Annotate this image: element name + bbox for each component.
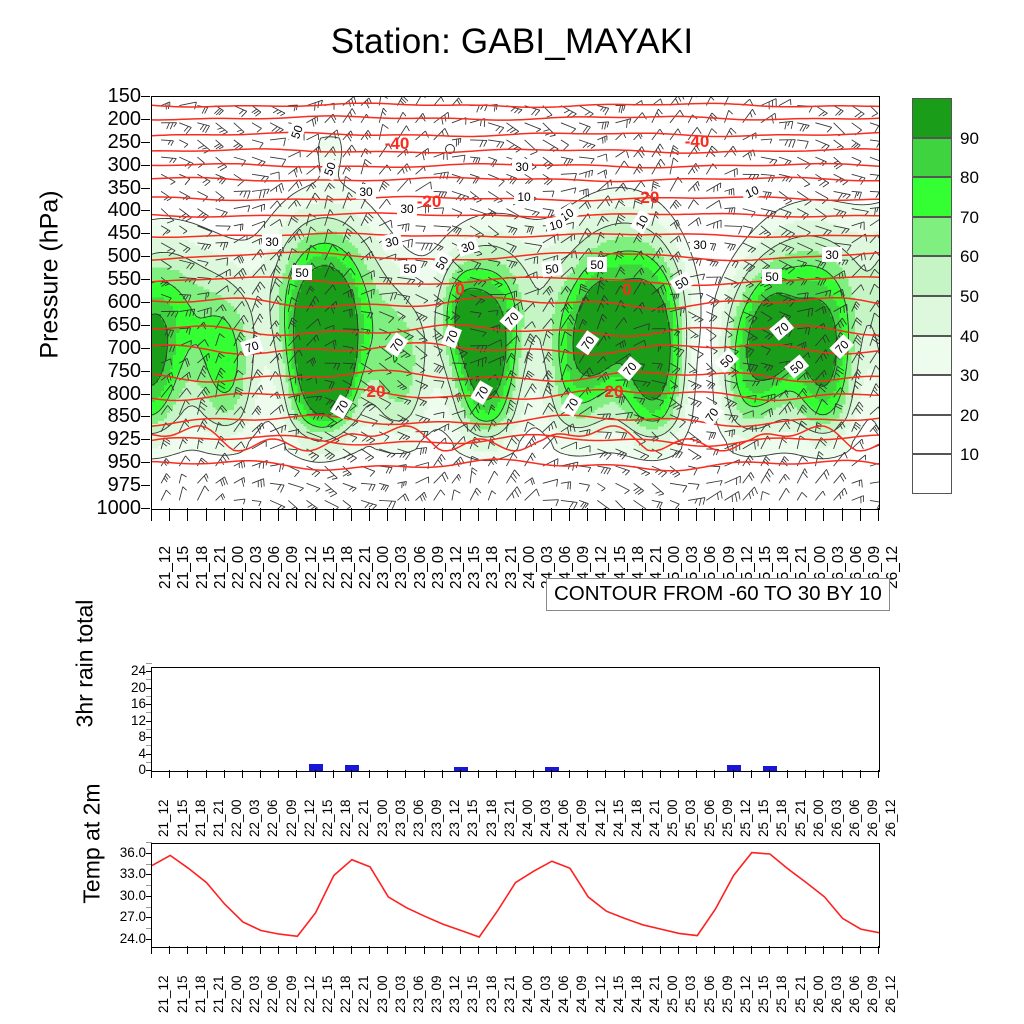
rain-y-tick-label: 20	[112, 681, 146, 695]
x-tick-label: 22_12	[302, 799, 317, 837]
x-tick-label: 21_12	[156, 799, 171, 837]
y-tick-mark	[141, 256, 150, 257]
x-tick-mark	[369, 770, 370, 778]
x-tick-label: 21_15	[175, 546, 193, 589]
y-tick-mark	[141, 188, 150, 189]
x-tick-mark	[823, 946, 824, 954]
x-tick-label: 26_09	[865, 975, 880, 1013]
x-tick-label: 22_03	[248, 546, 266, 589]
rain-y-tick-label: 16	[112, 697, 146, 711]
x-tick-label: 23_06	[411, 975, 426, 1013]
y-tick-mark	[141, 233, 150, 234]
x-tick-label: 23_21	[502, 975, 517, 1013]
x-tick-label: 25_12	[738, 975, 753, 1013]
x-tick-mark	[187, 770, 188, 778]
x-tick-label: 26_12	[883, 799, 898, 837]
x-tick-mark	[696, 770, 697, 778]
main-x-tick-marks	[151, 508, 878, 522]
x-tick-mark	[405, 946, 406, 954]
rain-y-tick-label: 24	[112, 664, 146, 678]
time-height-cross-section-plot[interactable]: -40-40-20-200020205050303010103010103030…	[151, 96, 880, 510]
rain-x-tick-marks	[151, 770, 878, 779]
x-tick-mark	[805, 770, 806, 778]
x-tick-mark	[714, 770, 715, 778]
x-tick-mark	[405, 508, 406, 521]
x-tick-mark	[242, 508, 243, 521]
x-tick-mark	[224, 770, 225, 778]
y-tick-label: 925	[79, 429, 141, 449]
colorbar-swatch	[912, 138, 952, 178]
x-tick-mark	[769, 508, 770, 521]
x-tick-label: 26_06	[847, 799, 862, 837]
x-tick-label: 22_03	[247, 975, 262, 1013]
x-tick-label: 26_09	[865, 799, 880, 837]
x-tick-mark	[569, 770, 570, 778]
x-tick-mark	[642, 770, 643, 778]
x-tick-mark	[424, 770, 425, 778]
x-tick-label: 21_15	[175, 799, 190, 837]
x-tick-mark	[387, 508, 388, 521]
temp-series-svg	[152, 844, 879, 947]
y-tick-mark	[141, 119, 150, 120]
x-tick-label: 26_12	[883, 975, 898, 1013]
x-tick-mark	[496, 508, 497, 521]
x-tick-mark	[624, 946, 625, 954]
x-tick-label: 22_15	[320, 975, 335, 1013]
x-tick-label: 25_21	[793, 799, 808, 837]
x-tick-mark	[206, 946, 207, 954]
x-tick-label: 21_15	[175, 975, 190, 1013]
x-tick-mark	[169, 946, 170, 954]
y-tick-label: 650	[79, 315, 141, 335]
x-tick-label: 22_21	[356, 799, 371, 837]
x-tick-mark	[460, 508, 461, 521]
x-tick-mark	[478, 946, 479, 954]
x-tick-mark	[296, 508, 297, 521]
x-tick-mark	[878, 770, 879, 778]
colorbar-tick-label: 40	[960, 328, 979, 345]
x-tick-mark	[878, 946, 879, 954]
x-tick-label: 23_06	[412, 546, 430, 589]
x-tick-label: 22_00	[229, 799, 244, 837]
x-tick-label: 21_18	[193, 975, 208, 1013]
main-y-tick-labels: 1502002503003504004505005506006507007508…	[79, 96, 141, 508]
x-tick-mark	[496, 946, 497, 954]
x-tick-mark	[278, 770, 279, 778]
y-tick-label: 850	[79, 406, 141, 426]
x-tick-label: 25_18	[774, 799, 789, 837]
x-tick-mark	[169, 770, 170, 778]
x-tick-mark	[333, 946, 334, 954]
x-tick-label: 24_06	[556, 975, 571, 1013]
colorbar-tick-label: 60	[960, 248, 979, 265]
x-tick-mark	[224, 508, 225, 521]
x-tick-label: 24_21	[647, 799, 662, 837]
x-tick-label: 23_06	[411, 799, 426, 837]
x-tick-mark	[805, 508, 806, 521]
x-tick-mark	[751, 946, 752, 954]
x-tick-mark	[369, 946, 370, 954]
x-tick-mark	[678, 508, 679, 521]
x-tick-mark	[660, 508, 661, 521]
x-tick-label: 23_12	[447, 799, 462, 837]
y-tick-mark	[141, 325, 150, 326]
x-tick-mark	[369, 508, 370, 521]
x-tick-label: 24_18	[629, 975, 644, 1013]
temp-y-tick-label: 33.0	[100, 867, 146, 881]
x-tick-mark	[878, 508, 879, 521]
y-tick-mark	[141, 96, 150, 97]
x-tick-label: 23_15	[465, 799, 480, 837]
y-tick-mark	[141, 348, 150, 349]
x-tick-label: 25_06	[702, 799, 717, 837]
x-tick-label: 25_03	[683, 799, 698, 837]
x-tick-mark	[587, 770, 588, 778]
contour-range-note: CONTOUR FROM -60 TO 30 BY 10	[546, 578, 890, 611]
x-tick-label: 24_15	[611, 975, 626, 1013]
x-tick-mark	[206, 508, 207, 521]
x-tick-mark	[442, 770, 443, 778]
x-tick-label: 24_06	[556, 799, 571, 837]
x-tick-mark	[333, 508, 334, 521]
x-tick-mark	[315, 770, 316, 778]
x-tick-mark	[260, 946, 261, 954]
x-tick-mark	[696, 508, 697, 521]
y-tick-mark	[141, 210, 150, 211]
x-tick-label: 24_00	[520, 799, 535, 837]
x-tick-label: 23_00	[375, 975, 390, 1013]
x-tick-label: 22_09	[284, 546, 302, 589]
x-tick-label: 22_15	[320, 799, 335, 837]
x-tick-label: 22_06	[265, 799, 280, 837]
x-tick-label: 23_15	[466, 546, 484, 589]
x-tick-mark	[296, 770, 297, 778]
x-tick-mark	[860, 508, 861, 521]
x-tick-mark	[515, 508, 516, 521]
colorbar-swatch	[912, 375, 952, 415]
x-tick-label: 25_18	[774, 975, 789, 1013]
x-tick-label: 26_03	[829, 799, 844, 837]
x-tick-label: 22_12	[302, 975, 317, 1013]
x-tick-label: 23_18	[484, 799, 499, 837]
x-tick-label: 22_18	[338, 799, 353, 837]
x-tick-mark	[714, 946, 715, 954]
x-tick-label: 24_12	[593, 975, 608, 1013]
x-tick-mark	[533, 770, 534, 778]
x-tick-label: 23_03	[393, 546, 411, 589]
x-tick-label: 24_09	[574, 799, 589, 837]
colorbar-tick-label: 70	[960, 209, 979, 226]
temp-y-tick-label: 24.0	[100, 932, 146, 946]
y-tick-label: 450	[79, 223, 141, 243]
x-tick-mark	[387, 946, 388, 954]
y-tick-mark	[141, 165, 150, 166]
x-tick-mark	[515, 946, 516, 954]
y-tick-mark	[141, 485, 150, 486]
colorbar-swatch	[912, 454, 952, 494]
temp-y-tick-label: 36.0	[100, 846, 146, 860]
x-tick-mark	[751, 508, 752, 521]
x-tick-mark	[424, 946, 425, 954]
x-tick-mark	[187, 946, 188, 954]
x-tick-mark	[478, 770, 479, 778]
x-tick-mark	[587, 946, 588, 954]
x-tick-label: 26_06	[847, 975, 862, 1013]
x-tick-label: 22_18	[338, 975, 353, 1013]
x-tick-label: 23_09	[430, 546, 448, 589]
x-tick-mark	[605, 946, 606, 954]
x-tick-mark	[860, 770, 861, 778]
x-tick-label: 23_12	[447, 975, 462, 1013]
x-tick-label: 23_21	[503, 546, 521, 589]
x-tick-label: 24_18	[629, 799, 644, 837]
x-tick-mark	[733, 508, 734, 521]
x-tick-label: 24_15	[611, 799, 626, 837]
y-tick-label: 300	[79, 155, 141, 175]
x-tick-label: 22_00	[230, 546, 248, 589]
y-tick-mark	[141, 302, 150, 303]
x-tick-label: 21_12	[157, 546, 175, 589]
y-tick-label: 1000	[79, 498, 141, 518]
x-tick-mark	[260, 770, 261, 778]
x-tick-label: 22_18	[339, 546, 357, 589]
x-tick-mark	[551, 946, 552, 954]
y-tick-label: 700	[79, 338, 141, 358]
x-tick-mark	[278, 946, 279, 954]
x-tick-mark	[642, 508, 643, 521]
rain-y-tick-label: 0	[112, 763, 146, 777]
x-tick-label: 21_18	[194, 546, 212, 589]
x-tick-mark	[624, 770, 625, 778]
y-tick-label: 250	[79, 132, 141, 152]
x-tick-label: 23_03	[393, 975, 408, 1013]
x-tick-mark	[296, 946, 297, 954]
x-tick-mark	[678, 770, 679, 778]
x-tick-label: 22_06	[265, 975, 280, 1013]
x-tick-label: 25_09	[720, 975, 735, 1013]
temp-y-tick-label: 27.0	[100, 910, 146, 924]
rain-x-tick-labels: 21_1221_1521_1821_2122_0022_0322_0622_09…	[151, 780, 878, 838]
rain-y-tick-labels: 04812162024	[112, 667, 146, 770]
y-tick-label: 950	[79, 452, 141, 472]
x-tick-mark	[733, 770, 734, 778]
x-tick-mark	[569, 508, 570, 521]
temp-y-tick-label: 30.0	[100, 889, 146, 903]
x-tick-mark	[351, 508, 352, 521]
x-tick-label: 24_00	[521, 546, 539, 589]
y-tick-label: 800	[79, 384, 141, 404]
x-tick-mark	[660, 770, 661, 778]
y-tick-label: 750	[79, 361, 141, 381]
x-tick-label: 22_00	[229, 975, 244, 1013]
rain-y-minor-tick	[146, 663, 152, 664]
x-tick-mark	[224, 946, 225, 954]
y-tick-label: 975	[79, 475, 141, 495]
y-tick-label: 600	[79, 292, 141, 312]
temp-x-tick-labels: 21_1221_1521_1821_2122_0022_0322_0622_09…	[151, 956, 878, 1014]
x-tick-label: 22_09	[284, 799, 299, 837]
x-tick-mark	[515, 770, 516, 778]
x-tick-label: 24_21	[647, 975, 662, 1013]
x-tick-mark	[206, 770, 207, 778]
x-tick-label: 26_00	[811, 975, 826, 1013]
x-tick-label: 22_12	[303, 546, 321, 589]
y-tick-label: 150	[79, 86, 141, 106]
x-tick-mark	[787, 770, 788, 778]
x-tick-label: 23_00	[375, 546, 393, 589]
x-tick-mark	[823, 508, 824, 521]
x-tick-mark	[823, 770, 824, 778]
x-tick-mark	[405, 770, 406, 778]
x-tick-mark	[533, 946, 534, 954]
x-tick-label: 23_18	[484, 975, 499, 1013]
x-tick-label: 21_18	[193, 799, 208, 837]
colorbar-tick-label: 20	[960, 407, 979, 424]
x-tick-label: 21_21	[212, 546, 230, 589]
x-tick-mark	[151, 770, 152, 778]
y-tick-mark	[141, 279, 150, 280]
x-tick-mark	[769, 770, 770, 778]
main-y-axis-label: Pressure (hPa)	[36, 95, 65, 455]
x-tick-mark	[424, 508, 425, 521]
colorbar-swatch	[912, 336, 952, 376]
x-tick-label: 23_09	[429, 799, 444, 837]
x-tick-label: 23_15	[465, 975, 480, 1013]
x-tick-mark	[714, 508, 715, 521]
x-tick-mark	[787, 508, 788, 521]
x-tick-mark	[551, 508, 552, 521]
x-tick-label: 25_00	[665, 975, 680, 1013]
x-tick-mark	[151, 946, 152, 954]
y-tick-mark	[141, 142, 150, 143]
x-tick-mark	[642, 946, 643, 954]
x-tick-label: 22_15	[321, 546, 339, 589]
x-tick-label: 25_06	[702, 975, 717, 1013]
colorbar-swatch	[912, 177, 952, 217]
x-tick-label: 24_03	[538, 799, 553, 837]
y-tick-label: 400	[79, 200, 141, 220]
y-tick-mark	[141, 439, 150, 440]
x-tick-mark	[842, 508, 843, 521]
x-tick-mark	[842, 770, 843, 778]
x-tick-mark	[442, 946, 443, 954]
temp-line-chart[interactable]	[151, 843, 880, 948]
x-tick-mark	[460, 946, 461, 954]
x-tick-label: 25_03	[683, 975, 698, 1013]
colorbar-swatch	[912, 296, 952, 336]
colorbar: 908070605040302010	[912, 98, 952, 494]
y-tick-mark	[141, 462, 150, 463]
x-tick-mark	[387, 770, 388, 778]
rain-y-tick-label: 12	[112, 714, 146, 728]
x-tick-mark	[351, 770, 352, 778]
x-tick-label: 23_09	[429, 975, 444, 1013]
x-tick-mark	[151, 508, 152, 521]
colorbar-tick-label: 50	[960, 288, 979, 305]
x-tick-mark	[751, 770, 752, 778]
x-tick-label: 24_09	[574, 975, 589, 1013]
x-tick-mark	[242, 946, 243, 954]
x-tick-mark	[496, 770, 497, 778]
x-tick-mark	[169, 508, 170, 521]
page-title: Station: GABI_MAYAKI	[0, 22, 1024, 62]
colorbar-swatch	[912, 256, 952, 296]
x-tick-mark	[333, 770, 334, 778]
x-tick-label: 24_12	[593, 799, 608, 837]
temp-x-tick-marks	[151, 946, 878, 955]
x-tick-label: 21_21	[211, 799, 226, 837]
x-tick-mark	[460, 770, 461, 778]
colorbar-tick-label: 80	[960, 169, 979, 186]
x-tick-mark	[733, 946, 734, 954]
x-tick-label: 21_21	[211, 975, 226, 1013]
colorbar-tick-label: 10	[960, 446, 979, 463]
x-tick-label: 21_12	[156, 975, 171, 1013]
y-tick-label: 200	[79, 109, 141, 129]
x-tick-label: 22_21	[357, 546, 375, 589]
y-tick-label: 350	[79, 178, 141, 198]
x-tick-mark	[315, 508, 316, 521]
x-tick-mark	[351, 946, 352, 954]
x-tick-mark	[842, 946, 843, 954]
colorbar-swatch	[912, 217, 952, 257]
x-tick-mark	[678, 946, 679, 954]
x-tick-label: 22_21	[356, 975, 371, 1013]
x-tick-mark	[605, 508, 606, 521]
y-tick-mark	[141, 394, 150, 395]
y-tick-label: 550	[79, 269, 141, 289]
x-tick-mark	[624, 508, 625, 521]
colorbar-tick-label: 30	[960, 367, 979, 384]
y-tick-mark	[141, 416, 150, 417]
x-tick-label: 24_03	[538, 975, 553, 1013]
x-tick-mark	[860, 946, 861, 954]
main-y-tick-marks	[141, 96, 151, 508]
x-tick-mark	[551, 770, 552, 778]
x-tick-label: 23_00	[375, 799, 390, 837]
x-tick-label: 25_12	[738, 799, 753, 837]
x-tick-mark	[478, 508, 479, 521]
colorbar-tick-label: 90	[960, 130, 979, 147]
x-tick-mark	[442, 508, 443, 521]
colorbar-swatch	[912, 98, 952, 138]
contour-field-svg: -40-40-20-200020205050303010103010103030…	[152, 97, 879, 509]
x-tick-mark	[260, 508, 261, 521]
x-tick-mark	[805, 946, 806, 954]
x-tick-label: 25_15	[756, 975, 771, 1013]
x-tick-label: 25_00	[665, 799, 680, 837]
x-tick-label: 25_21	[793, 975, 808, 1013]
x-tick-label: 22_06	[266, 546, 284, 589]
x-tick-mark	[187, 508, 188, 521]
x-tick-label: 23_03	[393, 799, 408, 837]
colorbar-swatch	[912, 415, 952, 455]
x-tick-label: 26_00	[811, 799, 826, 837]
x-tick-label: 23_12	[448, 546, 466, 589]
y-tick-mark	[141, 508, 150, 509]
x-tick-mark	[787, 946, 788, 954]
x-tick-mark	[533, 508, 534, 521]
rain-bar-chart[interactable]	[151, 667, 880, 772]
x-tick-mark	[278, 508, 279, 521]
x-tick-label: 25_09	[720, 799, 735, 837]
y-tick-label: 500	[79, 246, 141, 266]
x-tick-label: 25_15	[756, 799, 771, 837]
x-tick-label: 22_03	[247, 799, 262, 837]
x-tick-label: 22_09	[284, 975, 299, 1013]
rain-y-tick-label: 4	[112, 747, 146, 761]
x-tick-mark	[605, 770, 606, 778]
